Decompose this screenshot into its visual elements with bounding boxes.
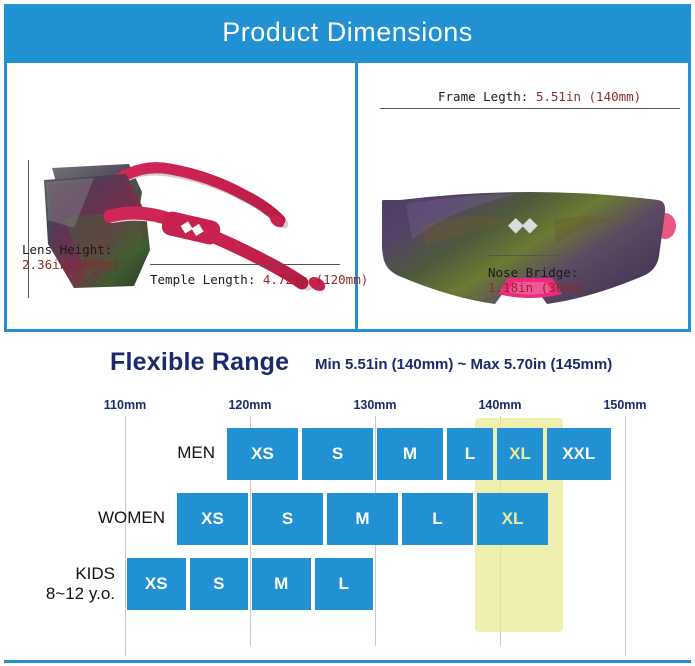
size-box-women-l[interactable]: L [402,493,473,545]
panel-divider [355,60,358,332]
size-box-kids-xs[interactable]: XS [127,558,186,610]
temple-length-rule [150,264,340,265]
nose-bridge-callout: Nose Bridge: 1.18in (30mm) [488,265,586,295]
size-box-men-xl[interactable]: XL [497,428,543,480]
lens-height-rule [28,160,29,298]
size-box-men-m[interactable]: M [377,428,443,480]
lens-height-callout: Lens Height: 2.36in (60mm) [22,242,120,272]
frame-length-label: Frame Legth: [438,89,528,104]
size-box-women-xl[interactable]: XL [477,493,548,545]
size-box-kids-m[interactable]: M [252,558,311,610]
size-box-men-xs[interactable]: XS [227,428,298,480]
size-box-men-s[interactable]: S [302,428,373,480]
temple-length-label: Temple Length: [150,272,255,287]
frame-length-rule [380,108,680,109]
lens-height-label: Lens Height: [22,242,120,257]
scale-label-110mm: 110mm [104,398,146,412]
page-header: Product Dimensions [4,4,691,60]
size-box-kids-s[interactable]: S [190,558,249,610]
nose-bridge-label: Nose Bridge: [488,265,586,280]
nose-bridge-value: 1.18in (30mm) [488,280,586,295]
nose-bridge-rule [488,255,560,256]
panel-left-border [4,60,7,332]
gridline-150mm [625,416,626,656]
scale-label-150mm: 150mm [603,398,646,412]
temple-length-value: 4.72in (120mm) [263,272,368,287]
panel-right-border [688,60,691,332]
frame-length-callout: Frame Legth: 5.51in (140mm) [438,89,641,104]
flexible-range-title: Flexible Range [110,348,289,377]
row-label-kids: KIDS8~12 y.o. [4,564,115,604]
frame-length-value: 5.51in (140mm) [536,89,641,104]
panel-top-border [4,60,691,63]
panel-bottom-border [4,329,691,332]
page-title: Product Dimensions [222,17,473,48]
scale-label-140mm: 140mm [478,398,521,412]
size-box-men-l[interactable]: L [447,428,493,480]
size-box-women-s[interactable]: S [252,493,323,545]
size-box-men-xxl[interactable]: XXL [547,428,611,480]
scale-label-120mm: 120mm [228,398,271,412]
temple-length-callout: Temple Length: 4.72in (120mm) [150,272,368,287]
lens-height-value: 2.36in (60mm) [22,257,120,272]
flexible-range-chart: Flexible Range Min 5.51in (140mm) ~ Max … [4,336,691,662]
footer-border [4,660,691,663]
row-sublabel-kids: 8~12 y.o. [4,584,115,604]
size-box-women-xs[interactable]: XS [177,493,248,545]
row-label-women: WOMEN [4,508,165,528]
size-box-kids-l[interactable]: L [315,558,374,610]
product-images-section: Lens Height: 2.36in (60mm) Temple Length… [4,60,691,332]
row-label-men: MEN [4,443,215,463]
flexible-range-subtitle: Min 5.51in (140mm) ~ Max 5.70in (145mm) [315,356,612,373]
size-box-women-m[interactable]: M [327,493,398,545]
scale-label-130mm: 130mm [353,398,396,412]
